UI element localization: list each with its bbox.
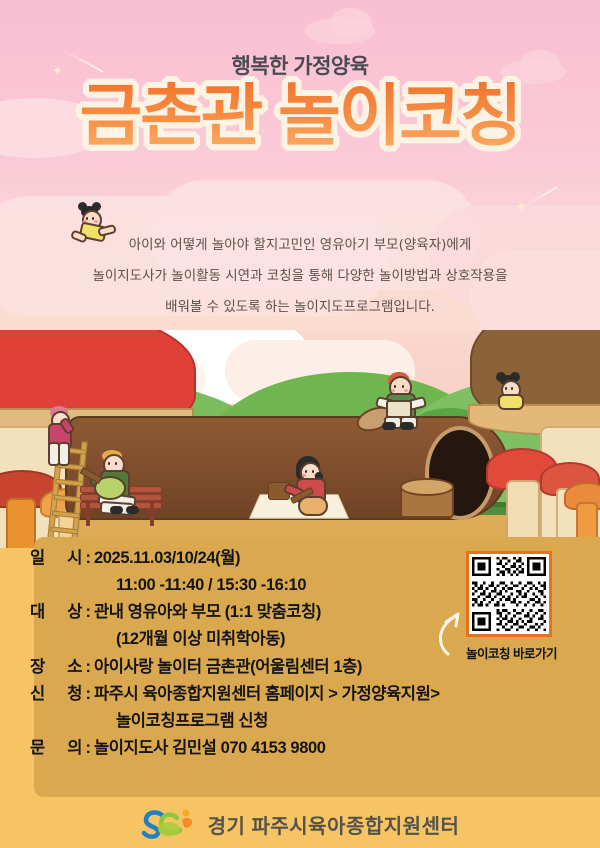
info-label: 신 청 bbox=[30, 684, 82, 705]
description-line: 놀이지도사가 놀이활동 시연과 코칭을 통해 다양한 놀이방법과 상호작용을 bbox=[48, 261, 552, 292]
child-character-icon bbox=[40, 406, 80, 466]
child-character-icon bbox=[288, 456, 342, 516]
info-value-contact: 놀이지도사 김민설 070 4153 9800 bbox=[94, 738, 500, 759]
info-row-target: 대 상 : 관내 영유아와 부모 (1:1 맞춤코칭) bbox=[30, 602, 500, 623]
info-colon: : bbox=[82, 548, 94, 569]
info-value-application: 파주시 육아종합지원센터 홈페이지 > 가정양육지원> bbox=[94, 684, 500, 705]
poster-subtitle: 행복한 가정양육 bbox=[0, 50, 600, 80]
guitar-player-character-icon bbox=[92, 450, 148, 526]
info-row-location: 장 소 : 아이사랑 놀이터 금촌관(어울림센터 1층) bbox=[30, 657, 500, 678]
info-label-char: 대 bbox=[30, 602, 45, 623]
info-label-char: 일 bbox=[30, 548, 45, 569]
info-label: 문 의 bbox=[30, 738, 82, 759]
info-label: 일 시 bbox=[30, 548, 82, 569]
info-value-location: 아이사랑 놀이터 금촌관(어울림센터 1층) bbox=[94, 657, 500, 678]
illustration-scene bbox=[0, 330, 600, 550]
footer: 경기 파주시육아종합지원센터 bbox=[0, 800, 600, 848]
info-colon: : bbox=[82, 738, 94, 759]
info-row-target-note: (12개월 이상 미취학아동) bbox=[30, 629, 500, 650]
info-row-application-note: 놀이코칭프로그램 신청 bbox=[30, 711, 500, 732]
child-character-icon bbox=[378, 372, 434, 438]
info-row-date: 일 시 : 2025.11.03/10/24(월) bbox=[30, 548, 500, 569]
info-label: 대 상 bbox=[30, 602, 82, 623]
cloud-icon bbox=[330, 8, 372, 38]
child-character-icon bbox=[494, 372, 538, 412]
info-row-contact: 문 의 : 놀이지도사 김민설 070 4153 9800 bbox=[30, 738, 500, 759]
child-character-icon bbox=[70, 202, 118, 242]
info-value-date: 2025.11.03/10/24(월) bbox=[94, 548, 500, 569]
qr-code-image[interactable] bbox=[466, 551, 552, 637]
poster-description: 아이와 어떻게 놀아야 할지고민인 영유아기 부모(양육자)에게 놀이지도사가 … bbox=[48, 230, 552, 323]
info-list: 일 시 : 2025.11.03/10/24(월) 11:00 -11:40 /… bbox=[30, 548, 500, 765]
info-label-char: 장 bbox=[30, 657, 45, 678]
info-colon: : bbox=[82, 602, 94, 623]
tree-stump-top-icon bbox=[400, 478, 454, 496]
qr-code-block[interactable]: 놀이코칭 바로가기 bbox=[466, 551, 552, 662]
info-colon: : bbox=[82, 657, 94, 678]
info-label-char: 상 bbox=[67, 602, 82, 623]
info-label-char: 의 bbox=[67, 738, 82, 759]
mushroom-stem-icon bbox=[6, 498, 36, 550]
center-logo-icon bbox=[141, 807, 199, 841]
poster-title: 금촌관 놀이코칭 bbox=[0, 82, 600, 150]
info-label-char: 소 bbox=[67, 657, 82, 678]
info-value-time: 11:00 -11:40 / 15:30 -16:10 bbox=[94, 575, 500, 596]
info-label-char: 문 bbox=[30, 738, 45, 759]
info-row-application: 신 청 : 파주시 육아종합지원센터 홈페이지 > 가정양육지원> bbox=[30, 684, 500, 705]
info-label-char: 청 bbox=[67, 684, 82, 705]
qr-code-label: 놀이코칭 바로가기 bbox=[466, 643, 552, 662]
footer-organization: 경기 파주시육아종합지원센터 bbox=[208, 810, 460, 839]
info-label-char: 시 bbox=[67, 548, 82, 569]
info-row-time: 11:00 -11:40 / 15:30 -16:10 bbox=[30, 575, 500, 596]
poster: ✦ ✦ 행복한 가정양육 금촌관 놀이코칭 아이와 어떻게 놀아야 할지고민인 … bbox=[0, 0, 600, 848]
info-label-char: 신 bbox=[30, 684, 45, 705]
description-line: 아이와 어떻게 놀아야 할지고민인 영유아기 부모(양육자)에게 bbox=[48, 230, 552, 261]
info-label: 장 소 bbox=[30, 657, 82, 678]
description-line: 배워볼 수 있도록 하는 놀이지도프로그램입니다. bbox=[48, 292, 552, 323]
info-value-application-note: 놀이코칭프로그램 신청 bbox=[94, 711, 500, 732]
info-colon: : bbox=[82, 684, 94, 705]
